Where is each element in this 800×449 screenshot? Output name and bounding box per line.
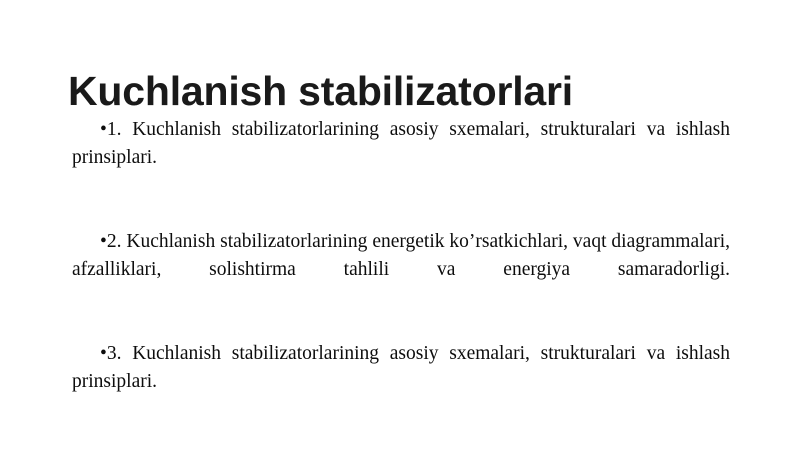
- list-item-text: 1. Kuchlanish stabilizatorlarining asosi…: [72, 119, 730, 168]
- slide-body: •1. Kuchlanish stabilizatorlarining asos…: [72, 116, 730, 424]
- page-title: Kuchlanish stabilizatorlari: [68, 67, 768, 115]
- list-item-text: 2. Kuchlanish stabilizatorlarining energ…: [72, 231, 730, 280]
- list-item: •1. Kuchlanish stabilizatorlarining asos…: [72, 116, 730, 200]
- bullet-icon: •: [100, 231, 107, 252]
- bullet-icon: •: [100, 343, 107, 364]
- list-item: •2. Kuchlanish stabilizatorlarining ener…: [72, 228, 730, 312]
- slide-canvas: Kuchlanish stabilizatorlari •1. Kuchlani…: [0, 0, 800, 449]
- list-item-text: 3. Kuchlanish stabilizatorlarining asosi…: [72, 343, 730, 392]
- list-item: •3. Kuchlanish stabilizatorlarining asos…: [72, 340, 730, 424]
- bullet-icon: •: [100, 119, 107, 140]
